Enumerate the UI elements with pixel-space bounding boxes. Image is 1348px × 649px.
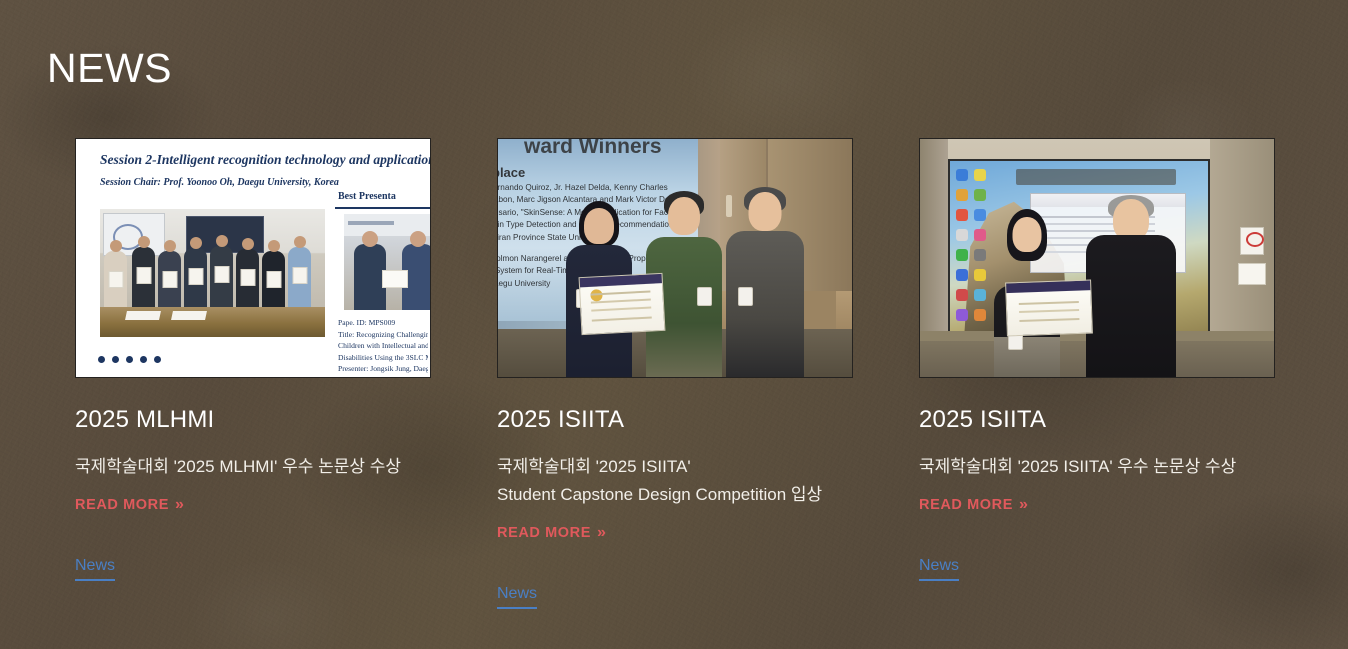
caption-line: Korea.	[338, 375, 428, 378]
certificate	[579, 273, 666, 335]
caption-line: Title: Recognizing Challenging Be	[338, 329, 428, 341]
caption-line: Presenter: Jongsik Jung, Daegu Un	[338, 363, 428, 375]
read-more-link[interactable]: READ MORE »	[497, 525, 605, 541]
award-heading: Best Presenta	[338, 191, 396, 202]
group-photo	[100, 209, 325, 337]
description-line: 국제학술대회 '2025 MLHMI' 우수 논문상 수상	[75, 453, 431, 481]
news-card-title: 2025 MLHMI	[75, 405, 431, 435]
table-front	[100, 307, 325, 337]
double-chevron-right-icon: »	[597, 525, 605, 541]
news-card-description: 국제학술대회 '2025 MLHMI' 우수 논문상 수상	[75, 453, 431, 481]
carousel-dot[interactable]	[112, 356, 119, 363]
page-title: NEWS	[47, 44, 172, 92]
news-card-list: Session 2-Intelligent recognition techno…	[75, 138, 1274, 609]
news-card-description: 국제학술대회 '2025 ISIITA' Student Capstone De…	[497, 453, 853, 509]
news-card[interactable]: 2025 ISIITA 국제학술대회 '2025 ISIITA' 우수 논문상 …	[919, 138, 1275, 609]
read-more-link[interactable]: READ MORE »	[919, 497, 1027, 513]
award-ceremony-photo: ward Winners place Fernando Quiroz, Jr. …	[498, 139, 852, 377]
description-line: Student Capstone Design Competition 입상	[497, 481, 853, 509]
divider	[335, 207, 431, 209]
news-card-title: 2025 ISIITA	[919, 405, 1275, 435]
conference-session-slide-image: Session 2-Intelligent recognition techno…	[76, 139, 430, 377]
news-card-thumbnail[interactable]	[919, 138, 1275, 378]
news-section: NEWS Session 2-Intelligent recognition t…	[0, 0, 1348, 649]
carousel-dot[interactable]	[126, 356, 133, 363]
read-more-link[interactable]: READ MORE »	[75, 497, 183, 513]
desktop-toolbar	[1016, 169, 1176, 185]
description-line: 국제학술대회 '2025 ISIITA'	[497, 453, 853, 481]
news-card[interactable]: Session 2-Intelligent recognition techno…	[75, 138, 431, 609]
category-link-news[interactable]: News	[75, 556, 115, 581]
category-wrapper: News	[75, 556, 431, 581]
slide-subheading: Session Chair: Prof. Yoonoo Oh, Daegu Un…	[100, 177, 339, 188]
caption-line: Pape. ID: MPS009	[338, 317, 428, 329]
read-more-label: READ MORE	[497, 525, 591, 541]
slide-subtitle: place	[498, 165, 525, 180]
award-photo	[344, 214, 431, 310]
news-card-thumbnail[interactable]: ward Winners place Fernando Quiroz, Jr. …	[497, 138, 853, 378]
carousel-dot[interactable]	[154, 356, 161, 363]
no-smoking-sign	[1240, 227, 1264, 255]
category-link-news[interactable]: News	[919, 556, 959, 581]
certificate-presentation-photo	[920, 139, 1274, 377]
person-official-right	[726, 187, 804, 377]
news-card-description: 국제학술대회 '2025 ISIITA' 우수 논문상 수상	[919, 453, 1275, 481]
category-wrapper: News	[919, 556, 1275, 581]
certificate	[1005, 280, 1093, 337]
award-caption: Pape. ID: MPS009 Title: Recognizing Chal…	[338, 317, 428, 378]
read-more-label: READ MORE	[75, 497, 169, 513]
slide-heading: Session 2-Intelligent recognition techno…	[100, 152, 430, 168]
description-line: 국제학술대회 '2025 ISIITA' 우수 논문상 수상	[919, 453, 1275, 481]
category-link-news[interactable]: News	[497, 584, 537, 609]
carousel-dot[interactable]	[140, 356, 147, 363]
best-presentation-block: Best Presenta Pape. ID: MPS009 Title: Re…	[332, 191, 430, 377]
wall-notice	[1238, 263, 1266, 285]
award-recipients-row	[100, 247, 325, 309]
caption-line: Children with Intellectual and Dev	[338, 340, 428, 352]
news-card-thumbnail[interactable]: Session 2-Intelligent recognition techno…	[75, 138, 431, 378]
person-official-presenter	[1086, 195, 1176, 377]
slide-title: ward Winners	[524, 139, 662, 159]
double-chevron-right-icon: »	[175, 497, 183, 513]
carousel-dot[interactable]	[98, 356, 105, 363]
news-card-title: 2025 ISIITA	[497, 405, 853, 435]
caption-line: Disabilities Using the 3SLC Metho	[338, 352, 428, 364]
double-chevron-right-icon: »	[1019, 497, 1027, 513]
category-wrapper: News	[497, 584, 853, 609]
carousel-dots[interactable]	[98, 356, 161, 363]
desktop-icons	[954, 167, 992, 337]
read-more-label: READ MORE	[919, 497, 1013, 513]
news-card[interactable]: ward Winners place Fernando Quiroz, Jr. …	[497, 138, 853, 609]
